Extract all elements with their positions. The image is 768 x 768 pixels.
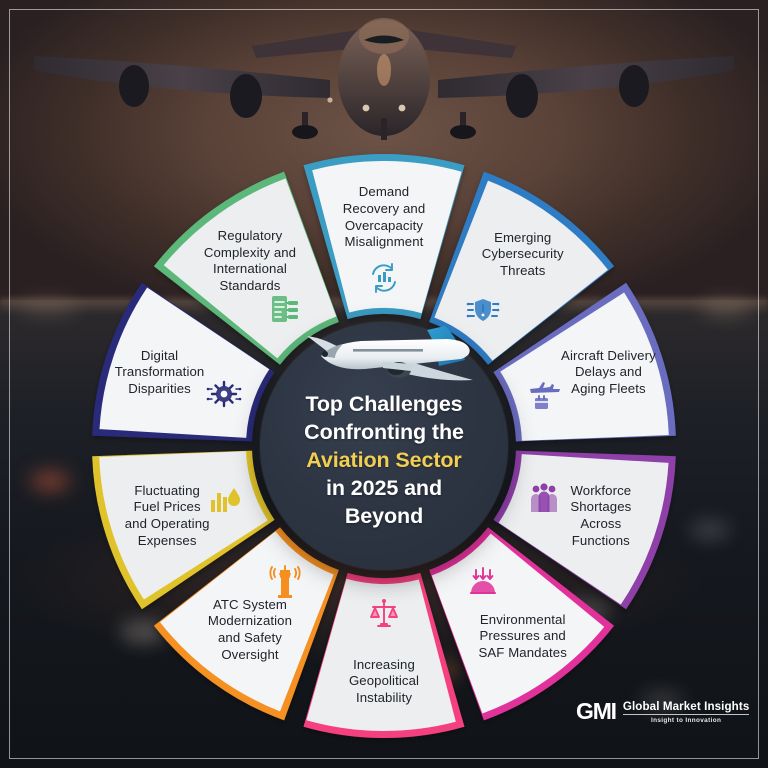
fuel-bar-chart-icon: [206, 480, 242, 516]
logo-company-name: Global Market Insights: [623, 700, 750, 713]
emissions-dome-icon: [465, 564, 501, 600]
runway-light: [30, 470, 70, 492]
title-highlight: Aviation Sector: [273, 447, 495, 475]
runway-light: [700, 300, 752, 316]
logo-tagline: Insight to Innovation: [651, 717, 721, 724]
title-line-1: Top Challenges: [305, 392, 462, 416]
logo-mark: GMI: [576, 698, 616, 725]
gear-circuit-icon: [206, 376, 242, 412]
plane-calendar-icon: [526, 376, 562, 412]
chart-refresh-icon: [366, 260, 402, 296]
runway-light: [690, 520, 730, 540]
logo-wordmark: Global Market Insights Insight to Innova…: [623, 700, 750, 724]
hero-airliner-icon: [0, 0, 768, 160]
scales-balance-icon: [366, 596, 402, 632]
center-title: Top Challenges Confronting the Aviation …: [273, 391, 495, 531]
airplane-icon: [295, 318, 480, 392]
runway-light: [18, 300, 78, 314]
logo-divider: [623, 714, 750, 715]
title-line-4: Beyond: [345, 504, 423, 528]
control-tower-icon: [267, 564, 303, 600]
people-group-icon: [526, 480, 562, 516]
infographic-page: DemandRecovery andOvercapacityMisalignme…: [0, 0, 768, 768]
title-line-2: Confronting the: [304, 420, 464, 444]
title-line-3: in 2025 and: [326, 476, 442, 500]
gmi-logo: GMI Global Market Insights Insight to In…: [576, 698, 749, 725]
